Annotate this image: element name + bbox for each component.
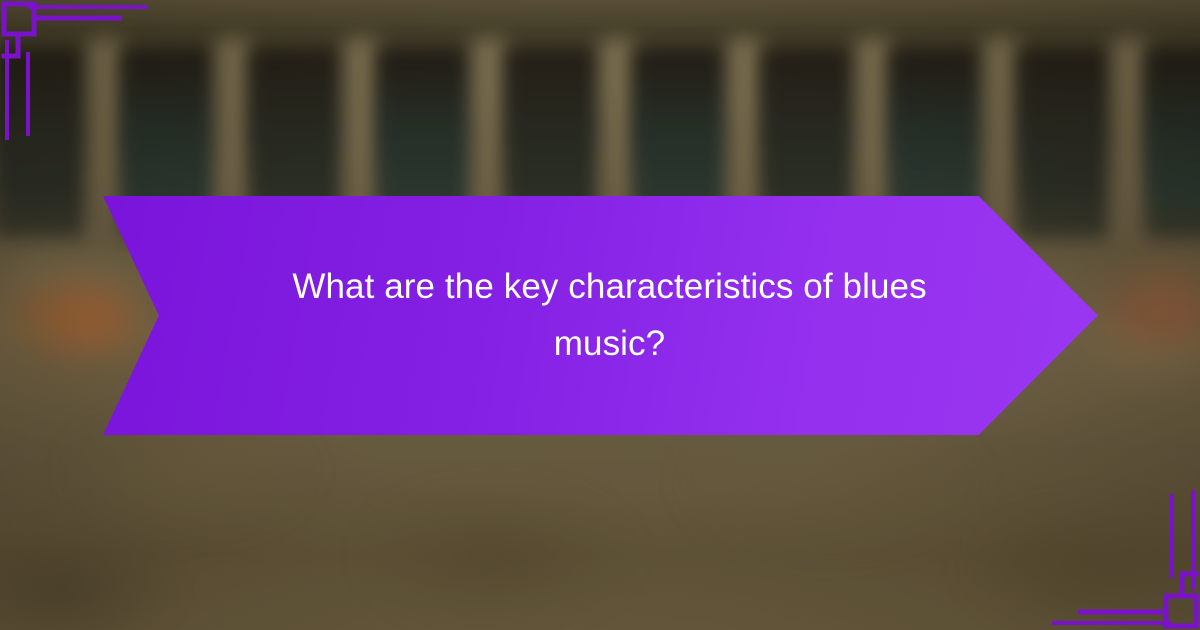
corner-bracket-bottom-right bbox=[1040, 470, 1200, 630]
question-text: What are the key characteristics of blue… bbox=[260, 259, 960, 372]
question-banner: What are the key characteristics of blue… bbox=[103, 196, 1098, 435]
corner-bracket-top-left bbox=[0, 0, 160, 160]
share-card-canvas: What are the key characteristics of blue… bbox=[0, 0, 1200, 630]
